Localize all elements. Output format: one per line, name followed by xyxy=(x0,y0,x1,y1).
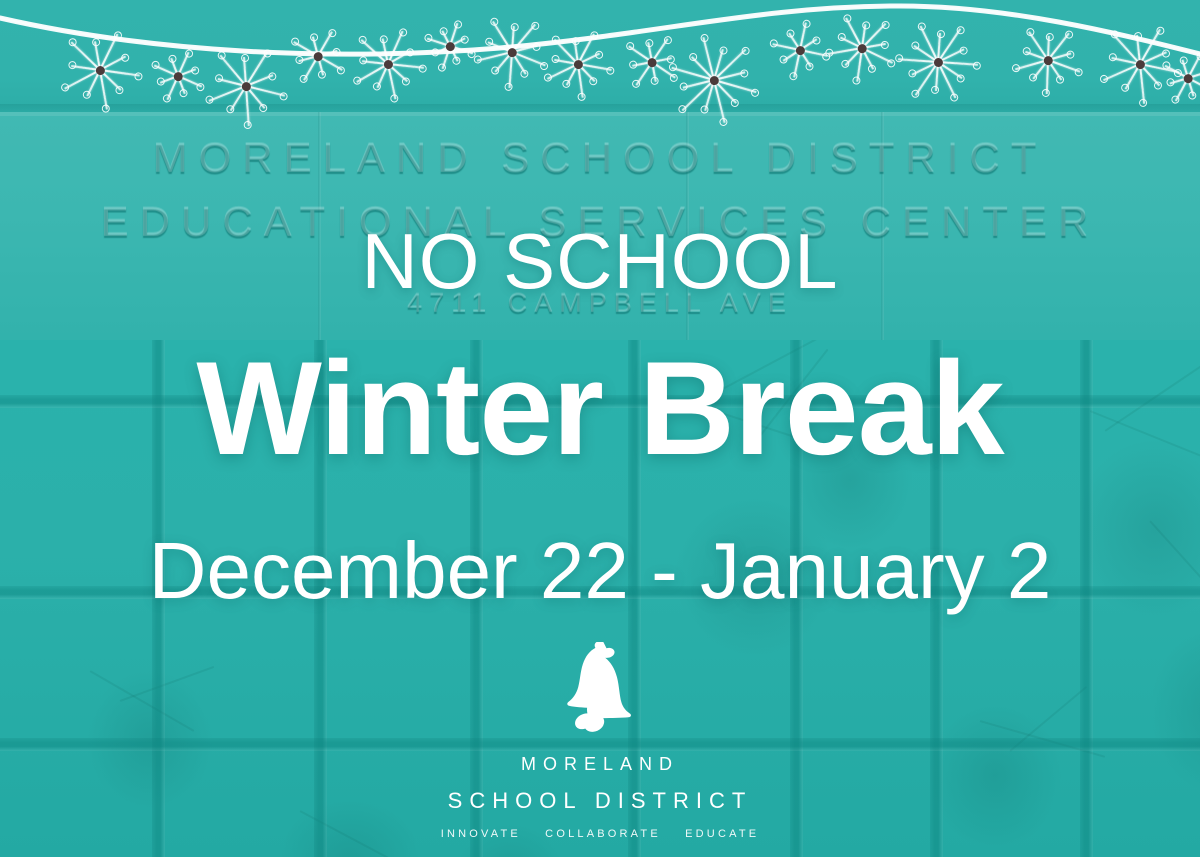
snowflake-garland-icon xyxy=(0,0,1200,135)
bell-glyph-icon xyxy=(554,642,646,740)
date-range-text: December 22 - January 2 xyxy=(0,525,1200,617)
eyebrow-no-school: NO SCHOOL xyxy=(0,216,1200,307)
tagline-word-2: COLLABORATE xyxy=(545,828,661,840)
bell-icon xyxy=(0,642,1200,740)
logo-name-line-2: SCHOOL DISTRICT xyxy=(0,781,1200,822)
logo-wordmark: MORELAND SCHOOL DISTRICT xyxy=(0,748,1200,822)
winter-break-announcement-poster: MORELAND SCHOOL DISTRICT EDUCATIONAL SER… xyxy=(0,0,1200,857)
district-logo-lockup: MORELAND SCHOOL DISTRICT INNOVATE COLLAB… xyxy=(0,642,1200,840)
tagline-word-1: INNOVATE xyxy=(441,828,521,840)
snowflake-icon xyxy=(55,25,145,115)
snowflake-icon xyxy=(895,19,980,104)
logo-name-line-1: MORELAND xyxy=(521,754,679,774)
logo-tagline: INNOVATE COLLABORATE EDUCATE xyxy=(0,828,1200,840)
page-title-headline: Winter Break xyxy=(0,343,1200,476)
tagline-word-3: EDUCATE xyxy=(685,828,759,840)
snowflake-icon xyxy=(539,25,618,104)
snowflake-icon xyxy=(348,24,427,103)
